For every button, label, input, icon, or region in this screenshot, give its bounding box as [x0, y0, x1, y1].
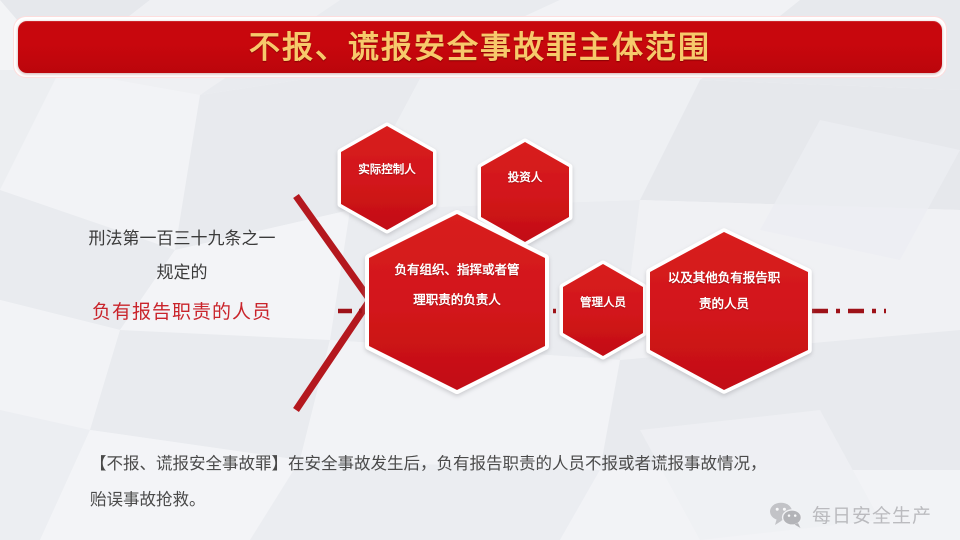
hexagon-management-staff[interactable] [563, 264, 643, 356]
footnote-line-1: 【不报、谎报安全事故罪】在安全事故发生后，负有报告职责的人员不报或者谎报事故情况… [90, 446, 900, 482]
slide-canvas: 不报、谎报安全事故罪主体范围 刑法第一百三十九条之一 规定的 负有报告职责的人员 [0, 0, 960, 540]
hexagon-other-reporting-duty[interactable] [650, 232, 808, 390]
hexagon-investor[interactable] [481, 142, 569, 242]
hexagon-actual-controller[interactable] [341, 126, 433, 230]
wechat-icon [769, 502, 803, 528]
watermark-text: 每日安全生产 [812, 501, 932, 528]
hexagon-responsible-person[interactable] [369, 214, 545, 390]
watermark: 每日安全生产 [769, 501, 932, 528]
